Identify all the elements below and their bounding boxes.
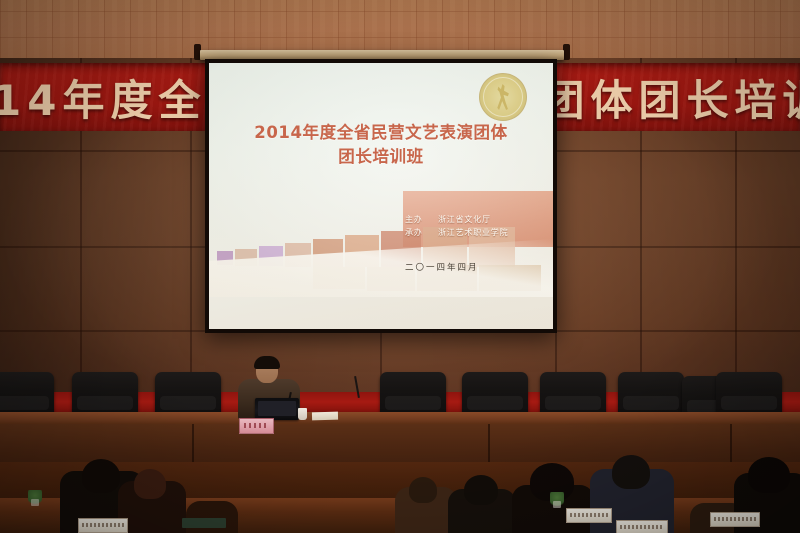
presentation-slide: 2014年度全省民营文艺表演团体 团长培训班 主办 浙江省文化厅 承办 浙江艺术… bbox=[209, 63, 553, 329]
slide-title: 2014年度全省民营文艺表演团体 团长培训班 bbox=[209, 121, 553, 169]
conference-hall-photo: 2014年度全省民营文艺表演团体团长培训班 bbox=[0, 0, 800, 533]
slide-credits: 主办 浙江省文化厅 承办 浙江艺术职业学院 bbox=[405, 213, 535, 239]
laptop bbox=[255, 398, 299, 420]
presenter-nameplate bbox=[239, 418, 274, 434]
credit-org-host: 浙江艺术职业学院 bbox=[438, 226, 508, 239]
credit-role-host: 承办 bbox=[405, 226, 429, 239]
projection-screen: 2014年度全省民营文艺表演团体 团长培训班 主办 浙江省文化厅 承办 浙江艺术… bbox=[205, 59, 557, 333]
namecard bbox=[78, 518, 128, 533]
slide-title-line1: 2014年度全省民营文艺表演团体 bbox=[254, 123, 508, 142]
credit-role-organizer: 主办 bbox=[405, 213, 429, 226]
slide-date: 二〇一四年四月 bbox=[405, 261, 535, 273]
credit-org-organizer: 浙江省文化厅 bbox=[438, 213, 491, 226]
screen-bracket-right bbox=[563, 44, 570, 60]
green-folder bbox=[182, 518, 226, 528]
slide-title-line2: 团长培训班 bbox=[209, 145, 553, 169]
namecard bbox=[710, 512, 760, 527]
table-plant bbox=[28, 490, 42, 506]
namecard bbox=[616, 520, 668, 533]
documents bbox=[312, 412, 338, 421]
presenter-hair bbox=[254, 356, 280, 369]
table-plant bbox=[550, 492, 564, 508]
water-cup bbox=[298, 408, 307, 420]
namecard bbox=[566, 508, 612, 523]
academy-logo-icon bbox=[479, 73, 527, 121]
